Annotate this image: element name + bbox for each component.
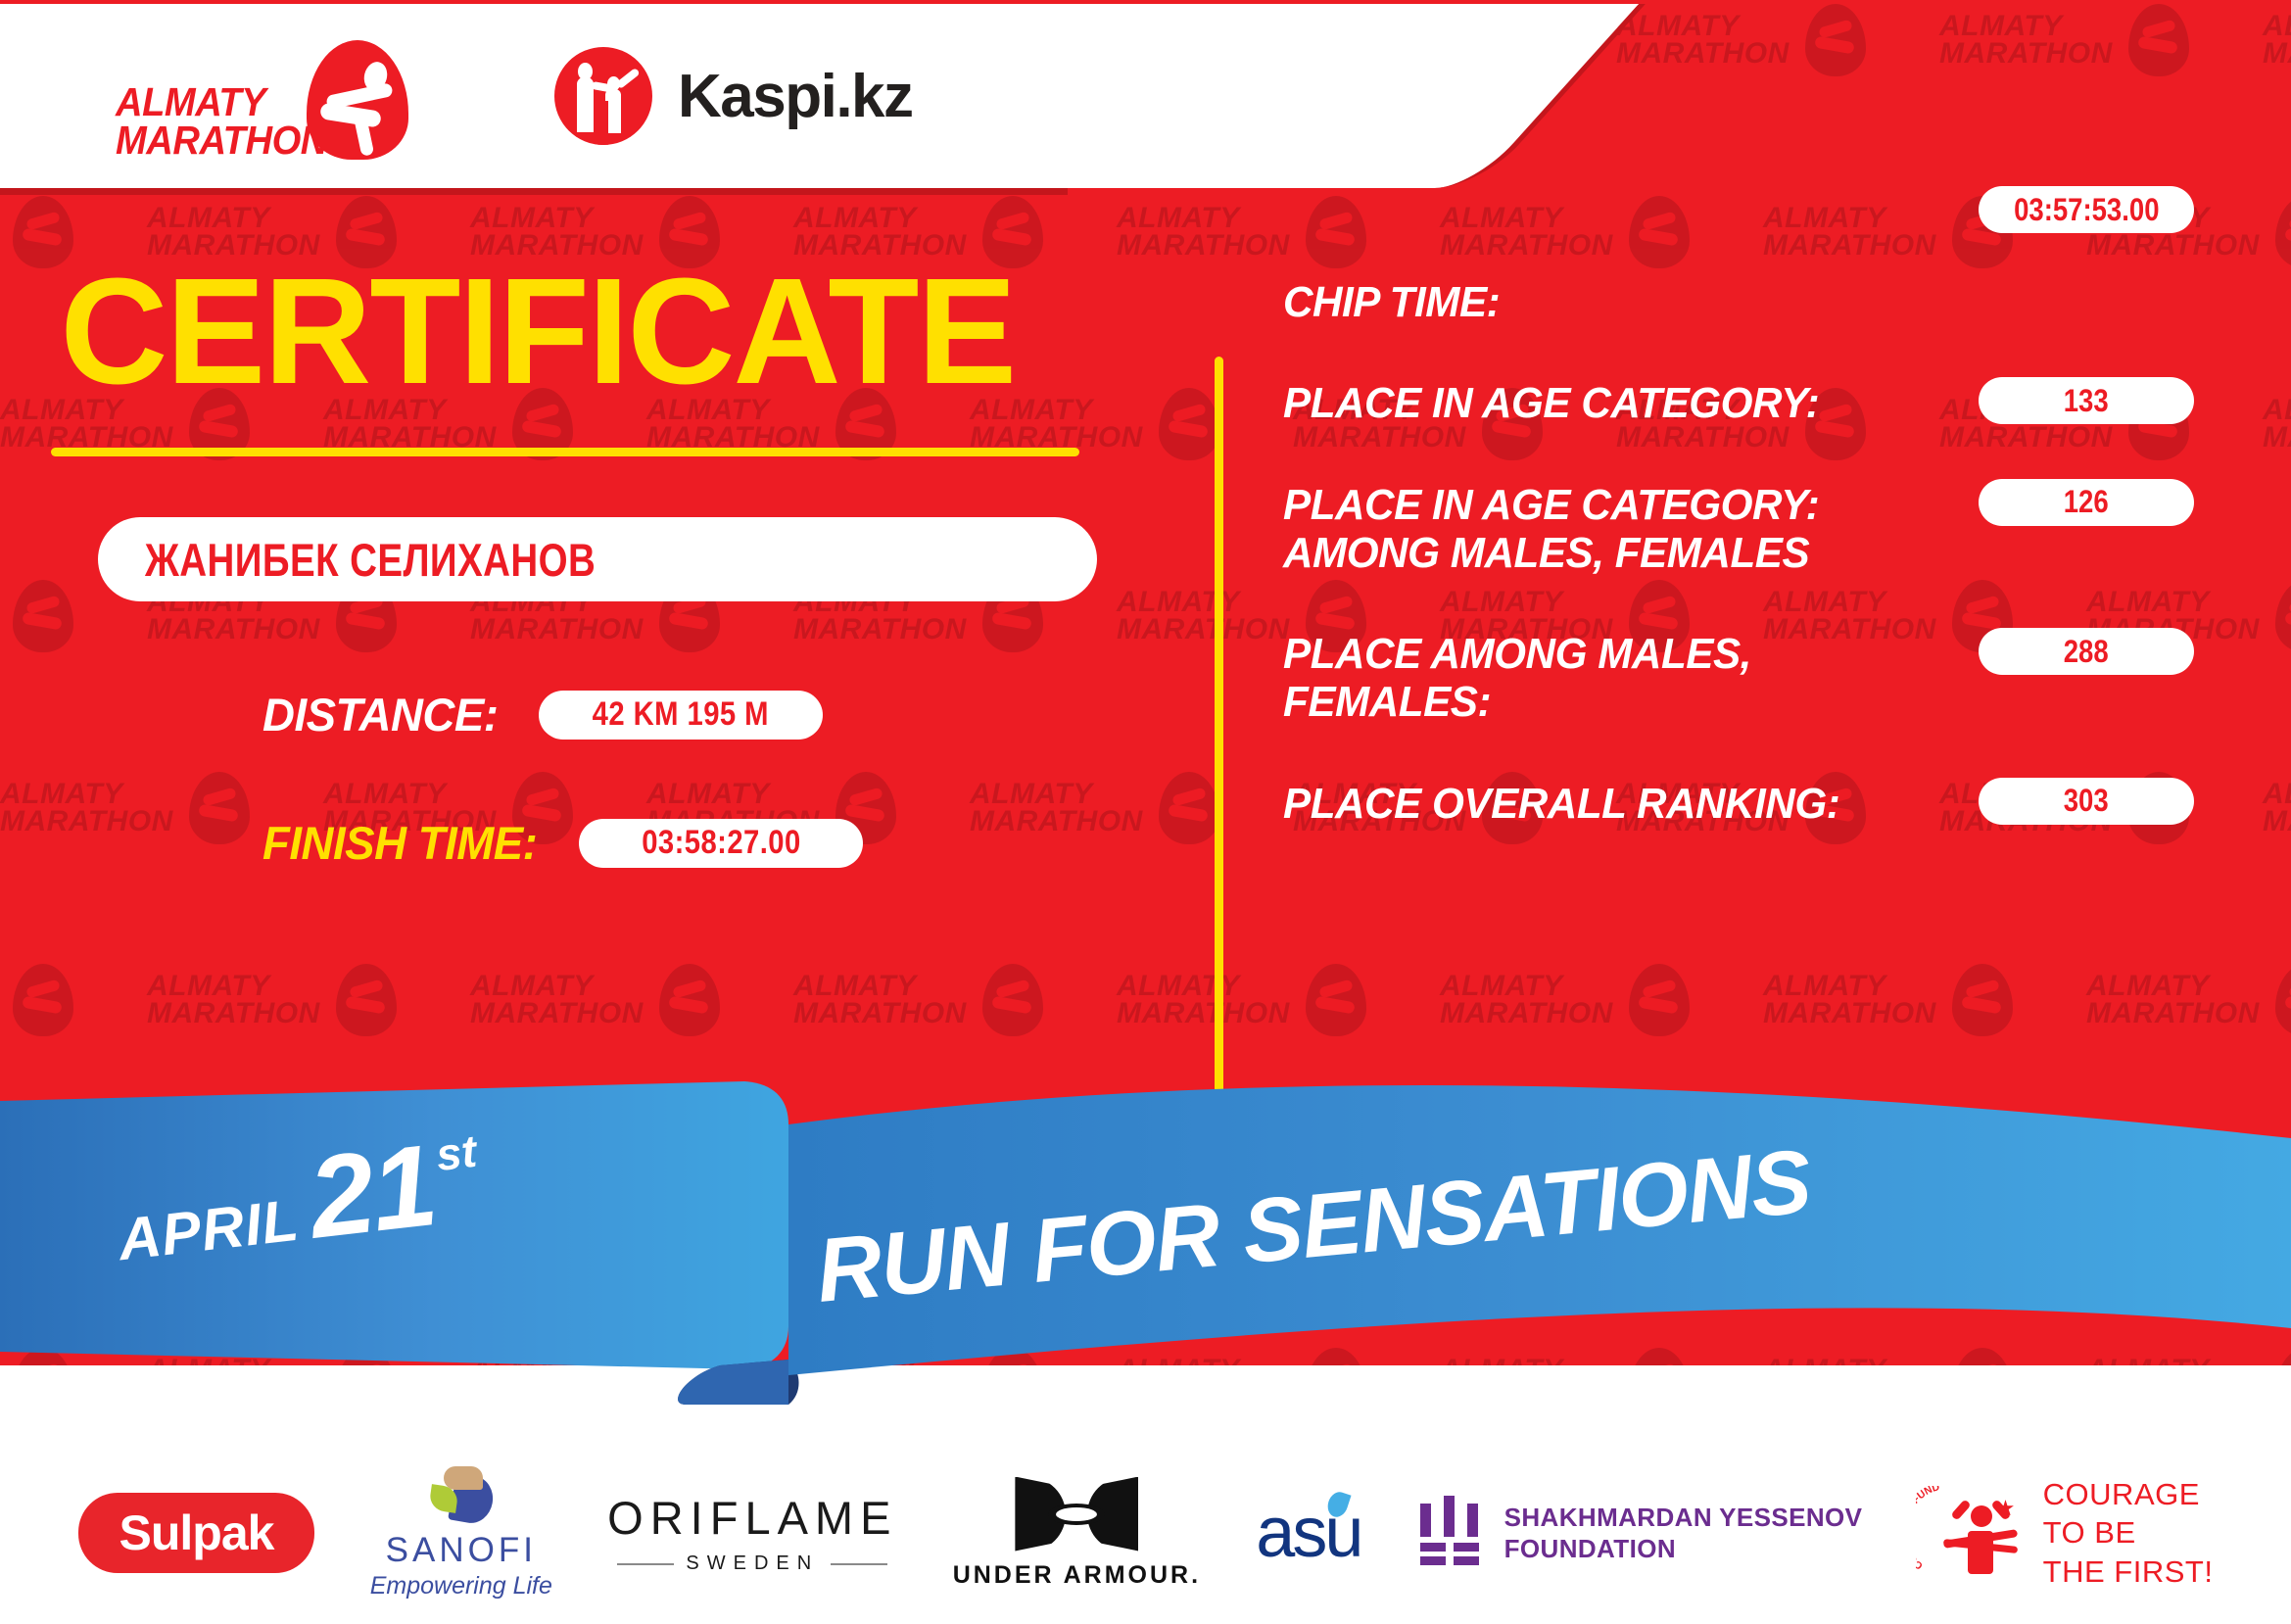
column-divider	[1215, 357, 1223, 1093]
stat-place-among-males-females-label: PLACE AMONG MALES, FEMALES:	[1283, 630, 1941, 727]
sponsor-footer: Sulpak SANOFI Empowering Life ORIFLAME S…	[0, 1373, 2291, 1624]
stat-place-among-males-females: PLACE AMONG MALES, FEMALES: 288	[1283, 630, 2263, 727]
sulpak-wordmark: Sulpak	[78, 1493, 315, 1573]
stat-place-age-category-value-pill: 133	[1979, 377, 2194, 424]
header: ALMATY MARATHON Kaspi.kz	[0, 4, 1313, 188]
courage-line2: TO BE	[2043, 1513, 2214, 1552]
metric-distance-label: DISTANCE:	[263, 688, 498, 741]
kaspi-people-icon	[554, 47, 652, 145]
stat-place-among-males-females-value: 288	[2064, 634, 2109, 670]
stat-chip-time-value-pill: 03:57:53.00	[1979, 186, 2194, 233]
metric-finish-time-value-pill: 03:58:27.00	[579, 819, 863, 868]
yessenov-bar-2	[1444, 1496, 1455, 1537]
watermark-item: ALMATYMARATHON	[1117, 964, 1366, 1036]
stat-place-age-category-among-value: 126	[2064, 484, 2109, 520]
kaspi-wordmark: Kaspi.kz	[678, 62, 913, 131]
yessenov-bar-1	[1420, 1504, 1431, 1537]
watermark-item: ALMATYMARATHON	[2086, 964, 2291, 1036]
sanofi-tagline: Empowering Life	[370, 1572, 552, 1600]
title-underline	[51, 448, 1079, 456]
stat-place-age-category-label: PLACE IN AGE CATEGORY:	[1283, 379, 1941, 427]
under-armour-wordmark: UNDER ARMOUR.	[953, 1561, 1201, 1590]
yessenov-bar-4	[1420, 1543, 1446, 1552]
oriflame-wordmark: ORIFLAME	[607, 1491, 897, 1545]
sponsor-oriflame: ORIFLAME SWEDEN	[607, 1491, 897, 1575]
yessenov-line2: FOUNDATION	[1504, 1533, 1863, 1565]
kaspi-logo: Kaspi.kz	[554, 47, 913, 145]
watermark-item: ALMATYMARATHON	[1616, 4, 1866, 76]
oriflame-rule-right	[831, 1563, 887, 1565]
courage-head	[1971, 1505, 1992, 1527]
yessenov-bar-5	[1454, 1543, 1479, 1552]
ribbon-day-suffix: st	[434, 1124, 480, 1181]
yessenov-wordmark: SHAKHMARDAN YESSENOV FOUNDATION	[1504, 1502, 1863, 1565]
sponsor-under-armour: UNDER ARMOUR.	[953, 1477, 1201, 1590]
stat-place-overall-ranking-value-pill: 303	[1979, 778, 2194, 825]
stat-place-age-category: PLACE IN AGE CATEGORY: 133	[1283, 379, 2263, 427]
courage-wordmark: COURAGE TO BE THE FIRST!	[2043, 1475, 2214, 1590]
right-column: CHIP TIME: 03:57:53.00 PLACE IN AGE CATE…	[1283, 188, 2263, 828]
svg-text:CORPORATE FUND: CORPORATE FUND	[1916, 1486, 1941, 1572]
sanofi-tan-shape	[444, 1466, 483, 1490]
almaty-marathon-wordmark: ALMATY MARATHON	[116, 83, 327, 161]
watermark-item: ALMATYMARATHON	[2263, 388, 2291, 460]
watermark-item: ALMATYMARATHON	[1440, 964, 1690, 1036]
courage-line1: COURAGE	[2043, 1475, 2214, 1513]
courage-line3: THE FIRST!	[2043, 1552, 2214, 1591]
under-armour-icon	[1015, 1477, 1138, 1552]
stat-place-age-category-among-label: PLACE IN AGE CATEGORY: AMONG MALES, FEMA…	[1283, 481, 1941, 578]
watermark-item: ALMATYMARATHON	[147, 964, 397, 1036]
yessenov-bar-6	[1420, 1556, 1446, 1565]
metric-distance-value: 42 KM 195 M	[593, 695, 769, 734]
yessenov-logo: SHAKHMARDAN YESSENOV FOUNDATION	[1416, 1496, 1863, 1570]
sponsor-asu: asu	[1256, 1498, 1360, 1568]
watermark-item: ALMATYMARATHON	[1763, 964, 2013, 1036]
ribbon-day: 21	[305, 1139, 439, 1245]
stat-chip-time-value: 03:57:53.00	[2014, 192, 2159, 228]
asu-wordmark: asu	[1256, 1498, 1360, 1568]
metric-finish-time: FINISH TIME: 03:58:27.00	[263, 816, 1215, 870]
runner-drop-icon	[307, 40, 408, 160]
metric-distance-value-pill: 42 KM 195 M	[539, 691, 823, 740]
stat-place-overall-ranking: PLACE OVERALL RANKING: 303	[1283, 780, 2263, 828]
page-title: CERTIFICATE	[0, 188, 1203, 408]
stat-chip-time-label: CHIP TIME:	[1283, 278, 1941, 326]
kaspi-figure-gap	[594, 101, 608, 145]
oriflame-rule-left	[617, 1563, 674, 1565]
stat-chip-time: CHIP TIME: 03:57:53.00	[1283, 188, 2263, 326]
under-armour-center-hole	[1056, 1507, 1097, 1521]
yessenov-bar-7	[1454, 1556, 1479, 1565]
left-column: CERTIFICATE ЖАНИБЕК СЕЛИХАНОВ DISTANCE: …	[0, 188, 1215, 870]
sponsor-sulpak: Sulpak	[78, 1493, 315, 1573]
courage-runner-figure: ★	[1951, 1502, 2012, 1576]
stat-place-overall-ranking-label: PLACE OVERALL RANKING:	[1283, 780, 1941, 828]
watermark-item: ALMATYMARATHON	[2263, 4, 2291, 76]
oriflame-sub: SWEDEN	[617, 1552, 887, 1575]
stat-place-among-males-females-value-pill: 288	[1979, 628, 2194, 675]
sanofi-wordmark: SANOFI	[386, 1531, 537, 1570]
sponsor-sanofi: SANOFI Empowering Life	[370, 1466, 552, 1600]
courage-arm-left	[1950, 1499, 1971, 1520]
almaty-marathon-line1: ALMATY	[116, 83, 327, 121]
metric-finish-time-value: 03:58:27.00	[642, 824, 800, 862]
kaspi-child-arm	[615, 68, 640, 89]
stat-place-age-category-among: PLACE IN AGE CATEGORY: AMONG MALES, FEMA…	[1283, 481, 2263, 578]
watermark-item: ALMATYMARATHON	[470, 964, 720, 1036]
yessenov-line1: SHAKHMARDAN YESSENOV	[1504, 1502, 1863, 1534]
sponsor-logo-row: Sulpak SANOFI Empowering Life ORIFLAME S…	[78, 1398, 2214, 1600]
courage-logo: CORPORATE FUND ★	[1918, 1475, 2214, 1590]
yessenov-bar-3	[1467, 1504, 1478, 1537]
runner-arm-lower	[319, 102, 382, 127]
almaty-marathon-logo: ALMATY MARATHON	[116, 32, 439, 160]
metric-distance: DISTANCE: 42 KM 195 M	[263, 688, 1215, 741]
almaty-marathon-line2: MARATHON	[116, 121, 327, 160]
oriflame-subtitle: SWEDEN	[686, 1552, 819, 1575]
sponsor-courage-fund: CORPORATE FUND ★	[1918, 1475, 2214, 1590]
watermark-item: ALMATYMARATHON	[0, 964, 73, 1036]
watermark-item: ALMATYMARATHON	[2263, 772, 2291, 844]
sponsor-yessenov-foundation: SHAKHMARDAN YESSENOV FOUNDATION	[1416, 1496, 1863, 1570]
sanofi-icon	[426, 1466, 497, 1527]
participant-name-field: ЖАНИБЕК СЕЛИХАНОВ	[98, 517, 1097, 601]
stat-place-age-category-among-value-pill: 126	[1979, 479, 2194, 526]
watermark-item: ALMATYMARATHON	[793, 964, 1043, 1036]
participant-name: ЖАНИБЕК СЕЛИХАНОВ	[145, 533, 596, 587]
metric-finish-time-label: FINISH TIME:	[263, 816, 537, 870]
certificate-page: ALMATYMARATHONALMATYMARATHONALMATYMARATH…	[0, 0, 2291, 1624]
stat-place-overall-ranking-value: 303	[2064, 783, 2109, 819]
courage-icon: CORPORATE FUND ★	[1918, 1482, 2028, 1584]
watermark-item: ALMATYMARATHON	[1939, 4, 2189, 76]
stat-place-age-category-value: 133	[2064, 383, 2109, 419]
yessenov-icon	[1416, 1496, 1483, 1570]
event-ribbon: APRIL 21 st RUN FOR SENSATIONS	[0, 1081, 2291, 1405]
